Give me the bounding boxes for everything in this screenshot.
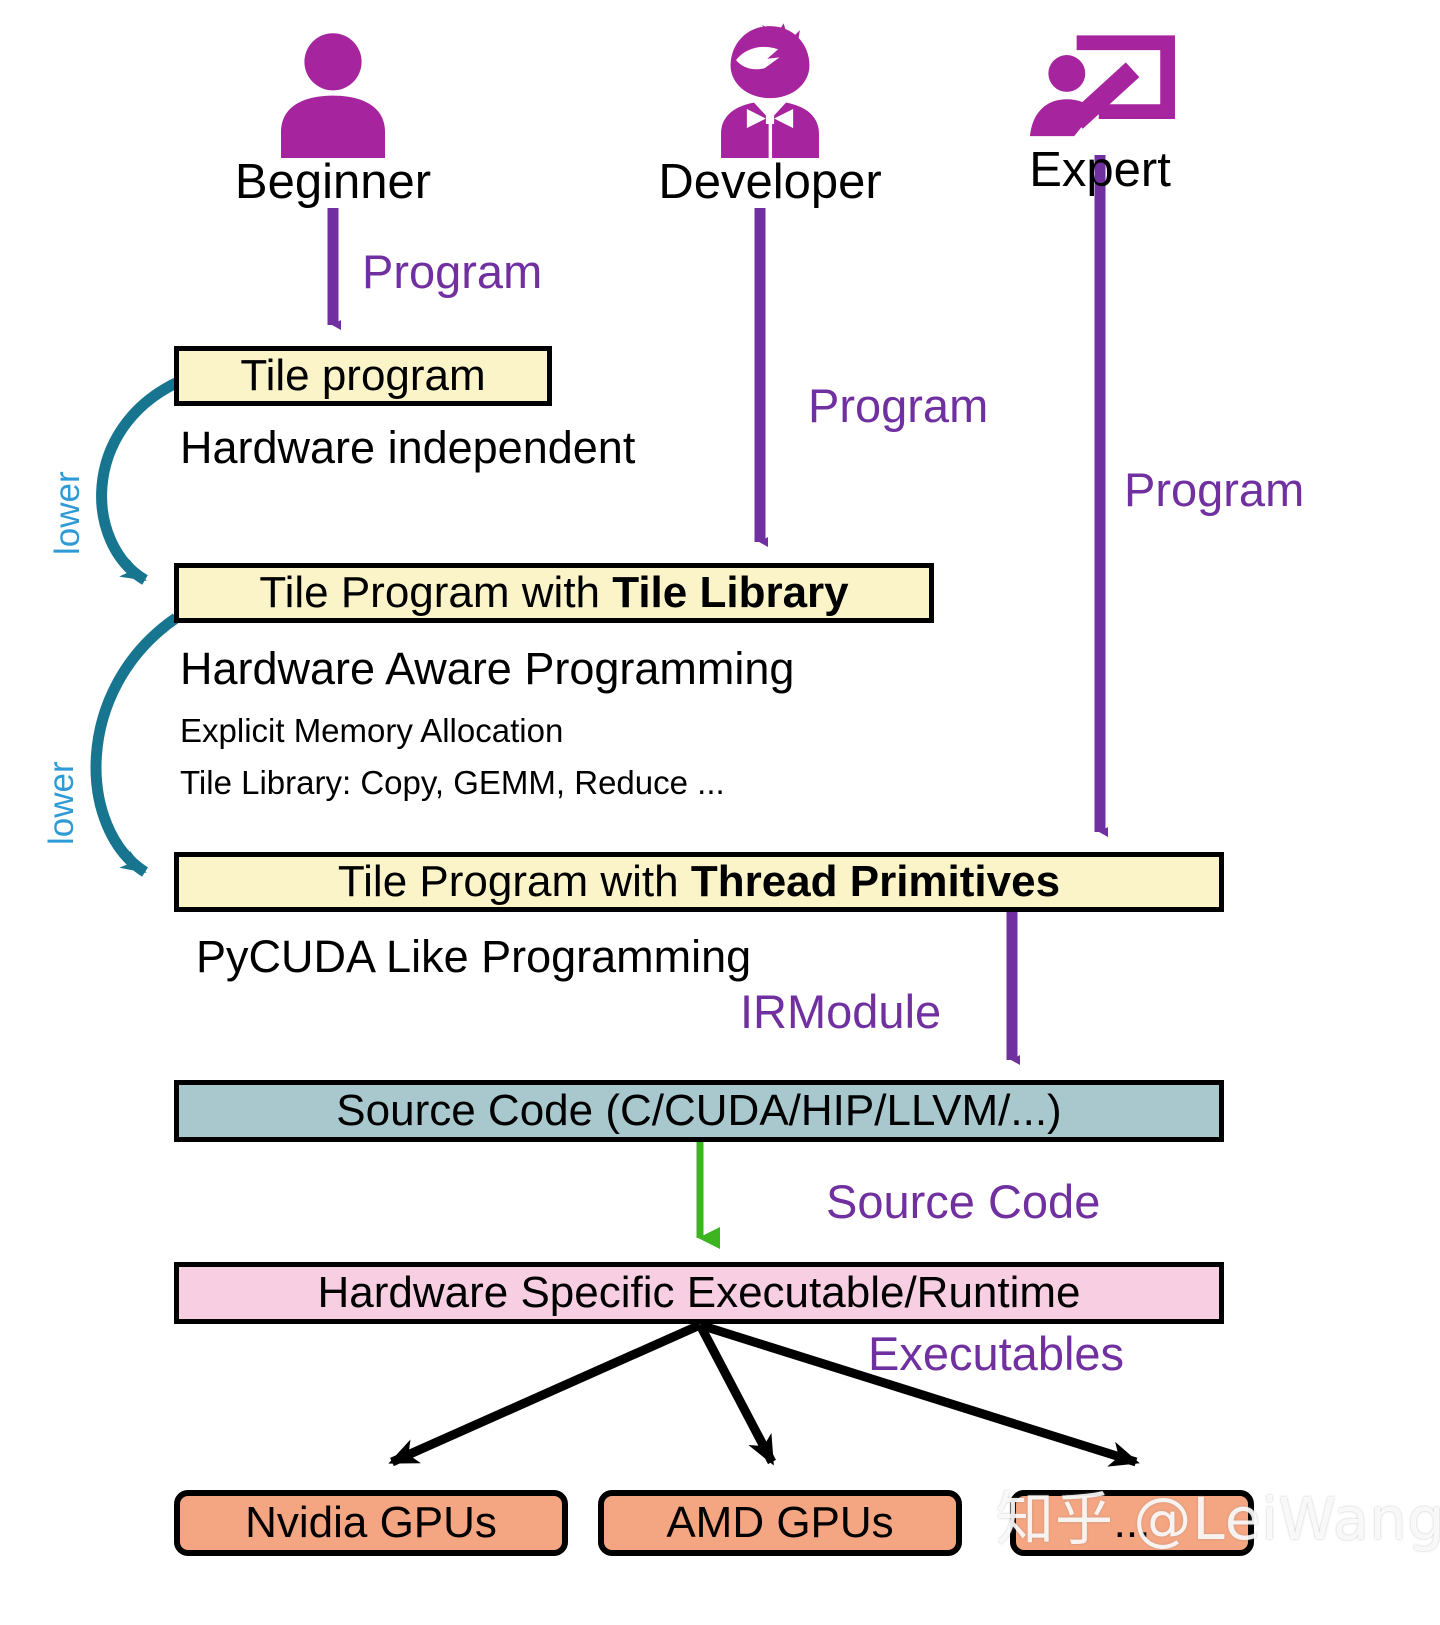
box-source-code[interactable]: Source Code (C/CUDA/HIP/LLVM/...) <box>174 1080 1224 1142</box>
persona-label-beginner: Beginner <box>203 158 463 207</box>
box-executable-runtime-label: Hardware Specific Executable/Runtime <box>317 1271 1080 1315</box>
caption-thread-primitives: PyCUDA Like Programming <box>196 934 751 979</box>
diagram-canvas: Beginner Developer <box>0 0 1440 1625</box>
box-target-amd-gpus[interactable]: AMD GPUs <box>598 1490 962 1556</box>
edge-label-source-code: Source Code <box>826 1178 1100 1225</box>
detail-explicit-memory-allocation: Explicit Memory Allocation <box>180 714 563 747</box>
persona-label-developer: Developer <box>640 158 900 207</box>
box-tile-program-label: Tile program <box>240 354 485 398</box>
box-target-nvidia-gpus[interactable]: Nvidia GPUs <box>174 1490 568 1556</box>
box-thread-primitives-label-prefix: Tile Program with <box>338 857 691 906</box>
edge-label-beginner-program: Program <box>362 248 542 295</box>
arrow-executable-to-nvidia <box>392 1325 700 1462</box>
box-tile-library-label-bold: Tile Library <box>612 568 848 617</box>
edge-label-lower-2: lower <box>44 761 79 845</box>
box-target-nvidia-gpus-label: Nvidia GPUs <box>245 1501 497 1545</box>
arrow-executable-to-amd <box>700 1325 772 1462</box>
box-tile-library[interactable]: Tile Program with Tile Library <box>174 563 934 623</box>
box-tile-library-label: Tile Program with Tile Library <box>259 571 848 615</box>
edge-label-expert-program: Program <box>1124 466 1304 513</box>
caption-tile-library: Hardware Aware Programming <box>180 646 794 691</box>
caption-tile-program: Hardware independent <box>180 425 635 470</box>
box-tile-program[interactable]: Tile program <box>174 346 552 406</box>
watermark-leiwang: 知乎 @LeiWang1999 <box>996 1490 1440 1548</box>
persona-developer: Developer <box>640 22 900 207</box>
box-thread-primitives[interactable]: Tile Program with Thread Primitives <box>174 852 1224 912</box>
arrow-layer <box>0 0 1440 1625</box>
developer-person-icon <box>700 22 840 158</box>
box-source-code-label: Source Code (C/CUDA/HIP/LLVM/...) <box>336 1089 1061 1133</box>
detail-tile-library-ops: Tile Library: Copy, GEMM, Reduce ... <box>180 766 725 799</box>
edge-label-developer-program: Program <box>808 382 988 429</box>
box-thread-primitives-label: Tile Program with Thread Primitives <box>338 860 1060 904</box>
presenter-whiteboard-icon <box>1020 28 1180 146</box>
box-executable-runtime[interactable]: Hardware Specific Executable/Runtime <box>174 1262 1224 1324</box>
persona-expert: Expert <box>980 28 1220 195</box>
persona-beginner: Beginner <box>203 28 463 207</box>
edge-label-lower-1: lower <box>50 471 85 555</box>
persona-label-expert: Expert <box>980 146 1220 195</box>
arrow-lower-tile-library-to-thread-primitives <box>96 618 176 872</box>
box-target-amd-gpus-label: AMD GPUs <box>666 1501 893 1545</box>
edge-label-executables: Executables <box>868 1330 1124 1377</box>
box-thread-primitives-label-bold: Thread Primitives <box>691 857 1060 906</box>
box-tile-library-label-prefix: Tile Program with <box>259 568 612 617</box>
edge-label-irmodule: IRModule <box>740 988 941 1035</box>
arrow-lower-tile-program-to-tile-library <box>102 383 176 580</box>
user-person-icon <box>268 28 398 158</box>
